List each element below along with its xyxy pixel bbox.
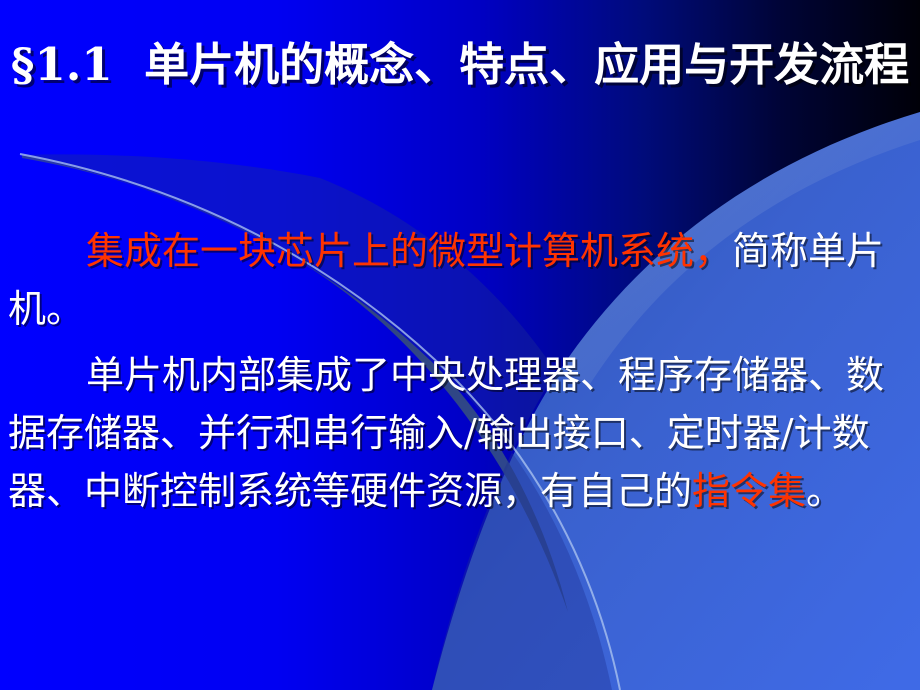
definition-highlight: 集成在一块芯片上的微型计算机系统， xyxy=(86,229,732,273)
slide-body: 集成在一块芯片上的微型计算机系统，简称单片机。 单片机内部集成了中央处理器、程序… xyxy=(8,222,914,528)
slide-content: §1.1 单片机的概念、特点、应用与开发流程 集成在一块芯片上的微型计算机系统，… xyxy=(0,0,920,690)
presentation-slide: §1.1 单片机的概念、特点、应用与开发流程 集成在一块芯片上的微型计算机系统，… xyxy=(0,0,920,690)
paragraph-internals: 单片机内部集成了中央处理器、程序存储器、数据存储器、并行和串行输入/输出接口、定… xyxy=(8,346,914,520)
internals-highlight: 指令集 xyxy=(692,469,806,513)
internals-period: 。 xyxy=(806,469,844,513)
paragraph-definition: 集成在一块芯片上的微型计算机系统，简称单片机。 xyxy=(8,222,914,338)
slide-title: §1.1 单片机的概念、特点、应用与开发流程 xyxy=(8,38,912,93)
